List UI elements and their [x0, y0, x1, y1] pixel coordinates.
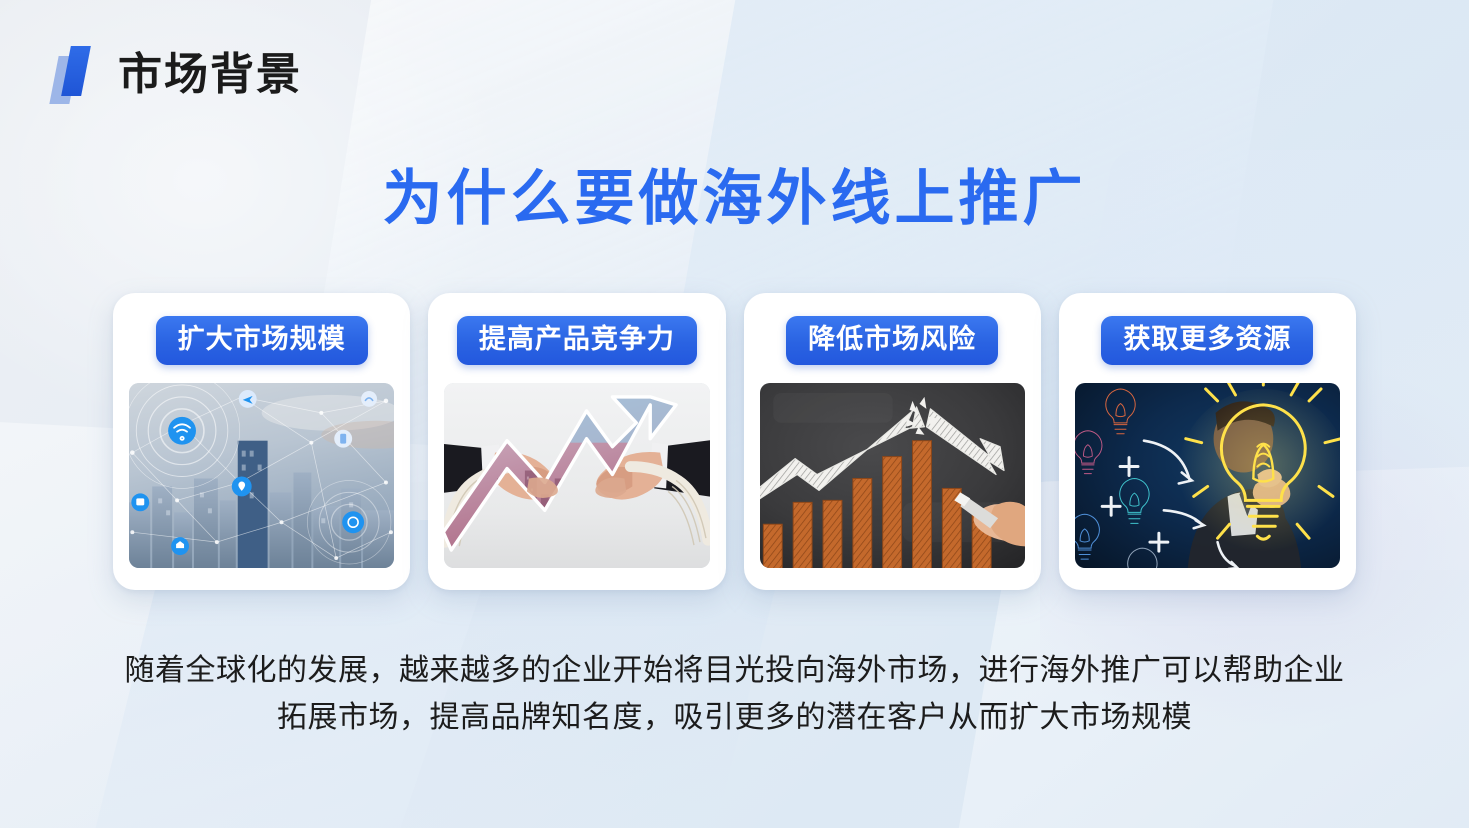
slanted-bars-logo-icon [52, 46, 98, 104]
card-reduce-risk[interactable]: 降低市场风险 [744, 293, 1041, 590]
slide-root: 市场背景 为什么要做海外线上推广 扩大市场规模 [0, 0, 1469, 828]
card-badge: 提高产品竞争力 [457, 316, 697, 365]
header-title: 市场背景 [118, 53, 302, 97]
card-badge: 扩大市场规模 [156, 316, 368, 365]
caption-line-2: 拓展市场，提高品牌知名度，吸引更多的潜在客户从而扩大市场规模 [0, 695, 1469, 742]
caption-paragraph: 随着全球化的发展，越来越多的企业开始将目光投向海外市场，进行海外推广可以帮助企业… [0, 648, 1469, 741]
slide-header: 市场背景 [52, 46, 302, 104]
logo-bar-front [61, 46, 91, 96]
chalkboard-bar-chart-image [760, 383, 1025, 568]
card-expand-market[interactable]: 扩大市场规模 [113, 293, 410, 590]
card-get-resources[interactable]: 获取更多资源 [1059, 293, 1356, 590]
card-badge: 获取更多资源 [1101, 316, 1313, 365]
caption-line-1: 随着全球化的发展，越来越多的企业开始将目光投向海外市场，进行海外推广可以帮助企业 [0, 648, 1469, 695]
tug-of-war-growth-arrow-image [444, 383, 709, 568]
card-row: 扩大市场规模 [113, 293, 1356, 590]
card-badge: 降低市场风险 [786, 316, 998, 365]
smart-city-network-image [129, 383, 394, 568]
lightbulb-idea-image [1075, 383, 1340, 568]
main-title: 为什么要做海外线上推广 [0, 150, 1469, 237]
card-improve-competitiveness[interactable]: 提高产品竞争力 [428, 293, 725, 590]
